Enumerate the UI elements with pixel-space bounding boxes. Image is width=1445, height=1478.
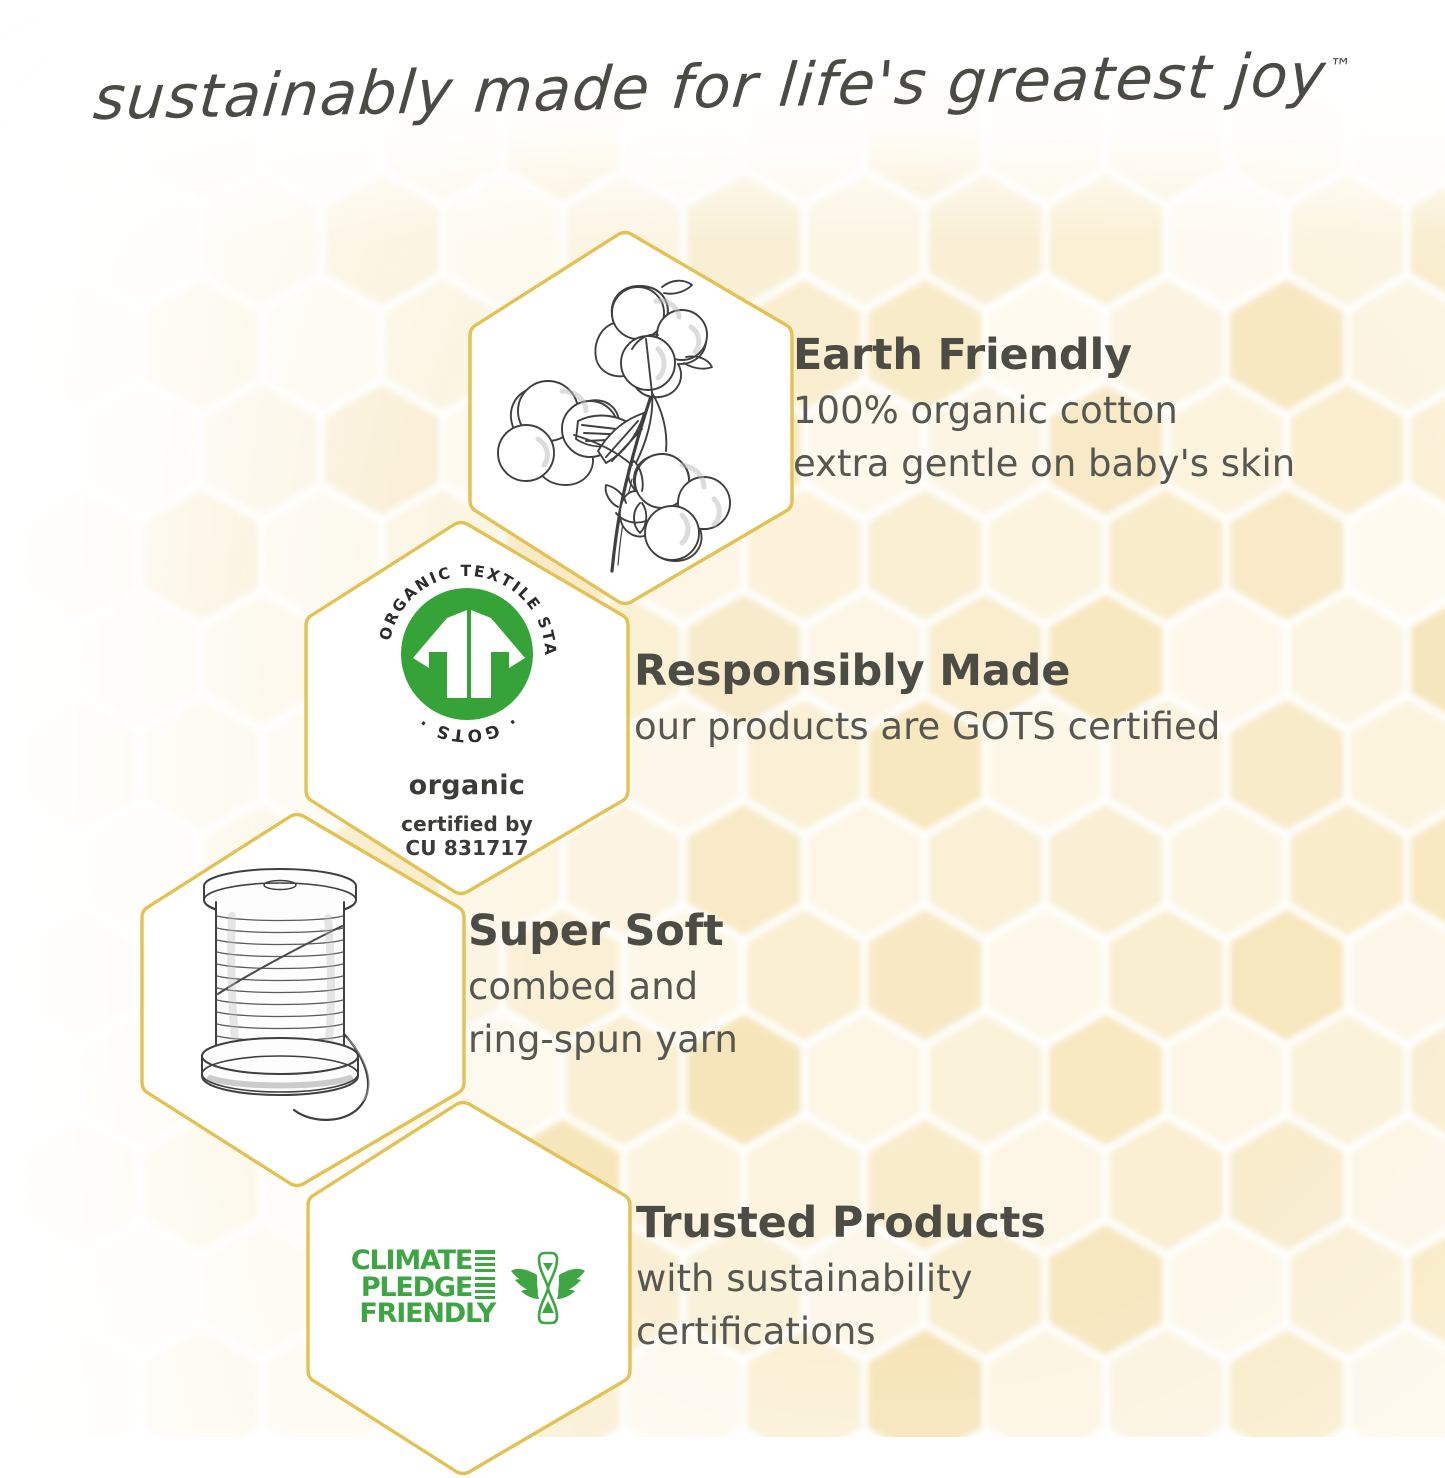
feature-title: Trusted Products (636, 1200, 1046, 1246)
cpf-word-pledge: PLEDGE (361, 1275, 472, 1302)
feature-title: Responsibly Made (634, 648, 1220, 694)
gots-certification-logo-icon: GLOBAL ORGANIC TEXTILE STANDARD · GOTS · (361, 548, 573, 760)
tagline-text: sustainably made for life's greatest joy (90, 40, 1329, 134)
feature-line: certifications (636, 1308, 1046, 1356)
thread-spool-sketch-icon (162, 842, 432, 1142)
feature-title: Super Soft (468, 908, 738, 954)
cpf-stripes-icon (475, 1248, 495, 1274)
gots-caption-organic: organic (409, 770, 526, 801)
feature-line: with sustainability (636, 1255, 1046, 1303)
feature-line: extra gentle on baby's skin (793, 440, 1295, 488)
tagline-container: sustainably made for life's greatest joy… (0, 52, 1445, 122)
feature-line: ring-spun yarn (468, 1016, 738, 1064)
feature-text-responsibly-made: Responsibly Made our products are GOTS c… (634, 648, 1220, 752)
tagline: sustainably made for life's greatest joy… (90, 40, 1354, 134)
feature-text-super-soft: Super Soft combed and ring-spun yarn (468, 908, 738, 1064)
cpf-word-friendly: FRIENDLY (359, 1301, 495, 1328)
feature-line: 100% organic cotton (793, 387, 1295, 435)
cpf-stripes-icon (475, 1275, 495, 1301)
winged-hourglass-icon (509, 1247, 587, 1329)
feature-text-earth-friendly: Earth Friendly 100% organic cotton extra… (793, 332, 1295, 488)
feature-line: our products are GOTS certified (634, 703, 1220, 751)
cpf-word-climate: CLIMATE (351, 1248, 472, 1275)
trademark-symbol: ™ (1328, 55, 1354, 80)
feature-text-trusted-products: Trusted Products with sustainability cer… (636, 1200, 1046, 1356)
feature-line: combed and (468, 963, 738, 1011)
climate-pledge-container: CLIMATE PLEDGE FRIENDLY (302, 1098, 636, 1478)
feature-title: Earth Friendly (793, 332, 1295, 378)
climate-pledge-wordmark: CLIMATE PLEDGE FRIENDLY (351, 1248, 495, 1328)
hex-card-trusted-products: CLIMATE PLEDGE FRIENDLY (302, 1098, 636, 1478)
